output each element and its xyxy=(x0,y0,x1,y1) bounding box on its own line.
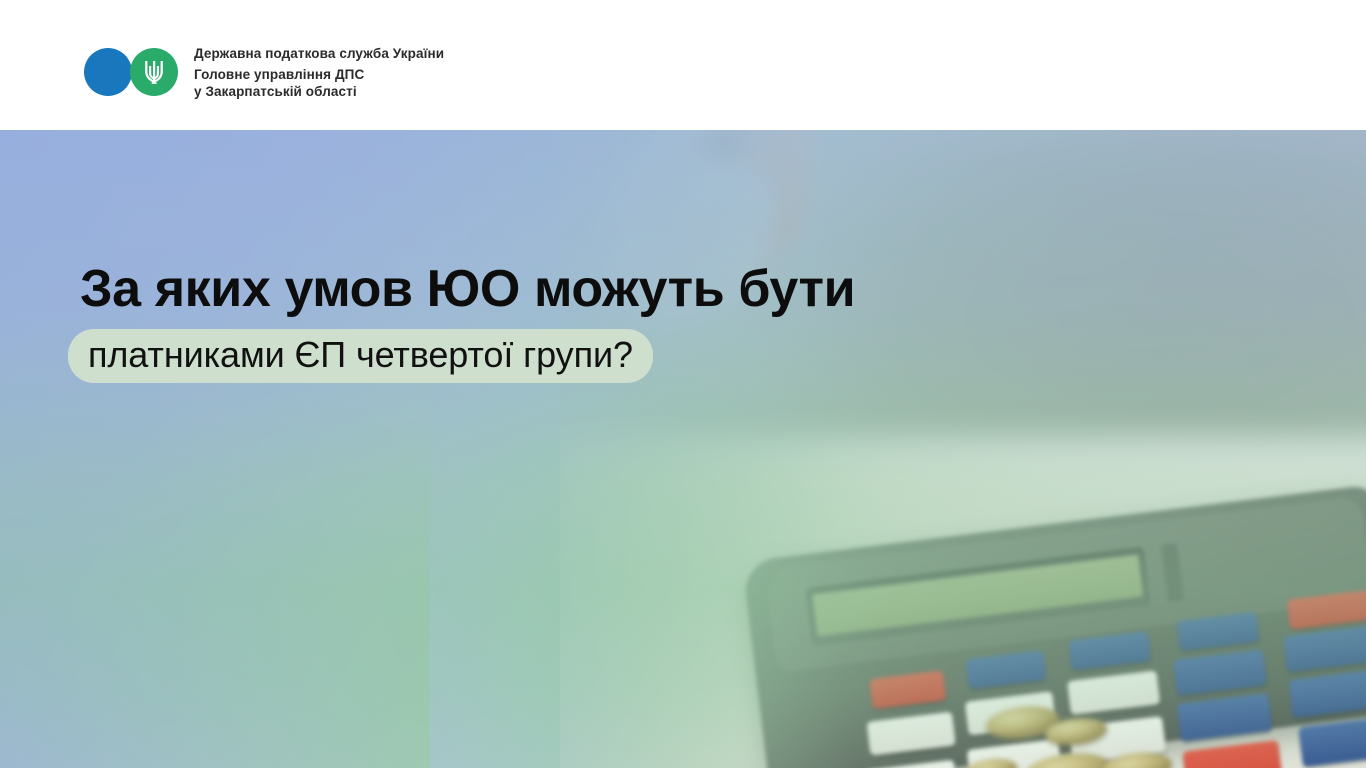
brand-block: Державна податкова служба України Головн… xyxy=(84,44,444,100)
brand-tint-vertical xyxy=(0,130,1366,768)
org-name-line1: Державна податкова служба України xyxy=(194,44,444,63)
hero-subtitle-wrap: платниками ЄП четвертої групи? xyxy=(0,329,1366,383)
logo-green-circle-icon xyxy=(130,48,178,96)
org-name-line3: у Закарпатській області xyxy=(194,83,444,100)
ukraine-trident-icon xyxy=(143,58,165,86)
hero-subtitle-highlight: платниками ЄП четвертої групи? xyxy=(68,329,653,383)
hero-banner xyxy=(0,130,1366,768)
brand-text: Державна податкова служба України Головн… xyxy=(194,44,444,100)
org-name-line2: Головне управління ДПС xyxy=(194,66,444,83)
hero-title: За яких умов ЮО можуть бути xyxy=(0,258,1366,320)
page-header: Державна податкова служба України Головн… xyxy=(0,0,1366,130)
logo xyxy=(84,48,180,96)
hero-text-block: За яких умов ЮО можуть бути платниками Є… xyxy=(0,258,1366,383)
slide-root: Державна податкова служба України Головн… xyxy=(0,0,1366,768)
logo-blue-circle-icon xyxy=(84,48,132,96)
